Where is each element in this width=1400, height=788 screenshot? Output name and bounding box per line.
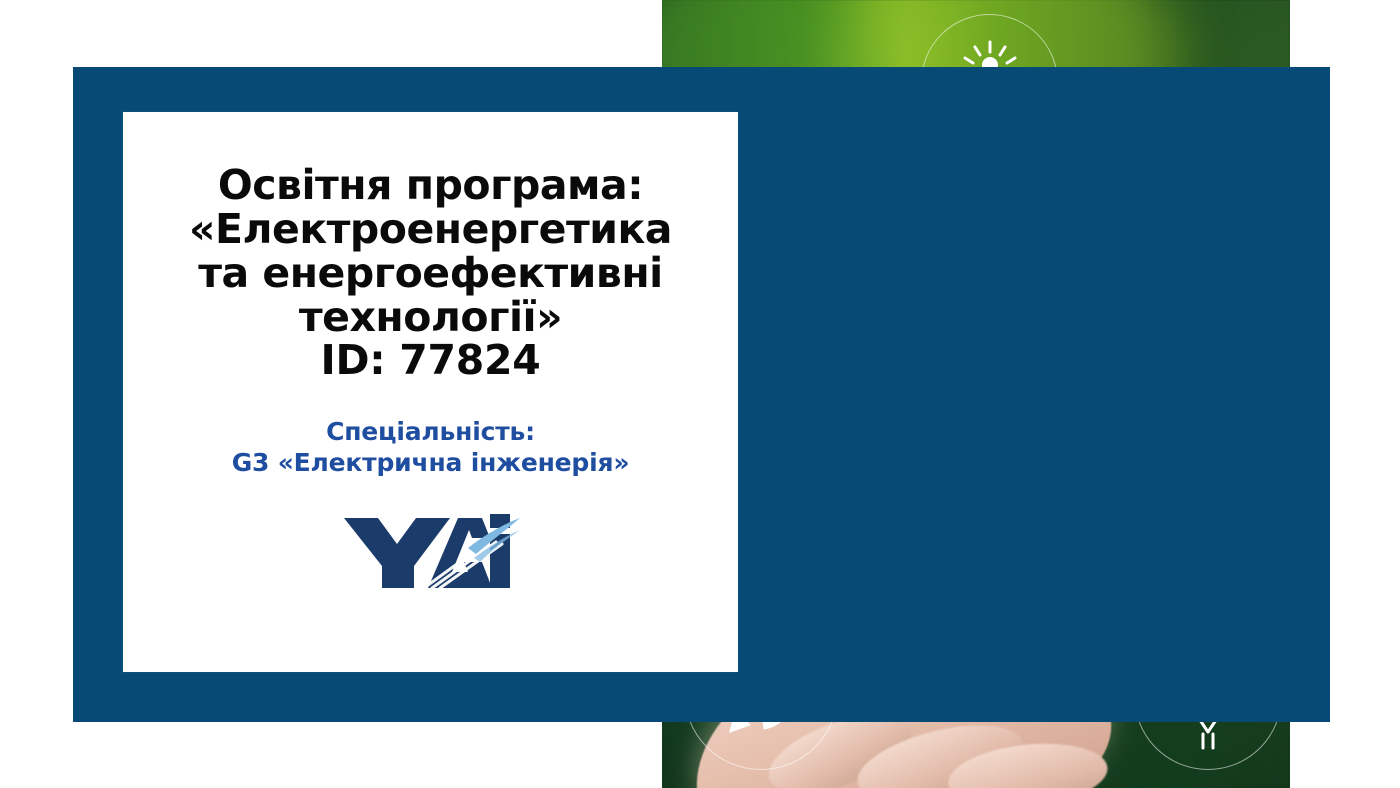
page-title: Освітня програма: «Електроенергетика та …: [183, 164, 678, 339]
info-card: Освітня програма: «Електроенергетика та …: [123, 112, 738, 672]
program-id: ID: 77824: [321, 339, 541, 383]
xai-logo: [340, 504, 522, 596]
slide-canvas: Освітня програма: «Електроенергетика та …: [0, 0, 1400, 788]
specialty-value: G3 «Електрична інженерія»: [232, 448, 630, 479]
specialty-label: Спеціальність:: [232, 417, 630, 448]
specialty-block: Спеціальність: G3 «Електрична інженерія»: [232, 417, 630, 478]
